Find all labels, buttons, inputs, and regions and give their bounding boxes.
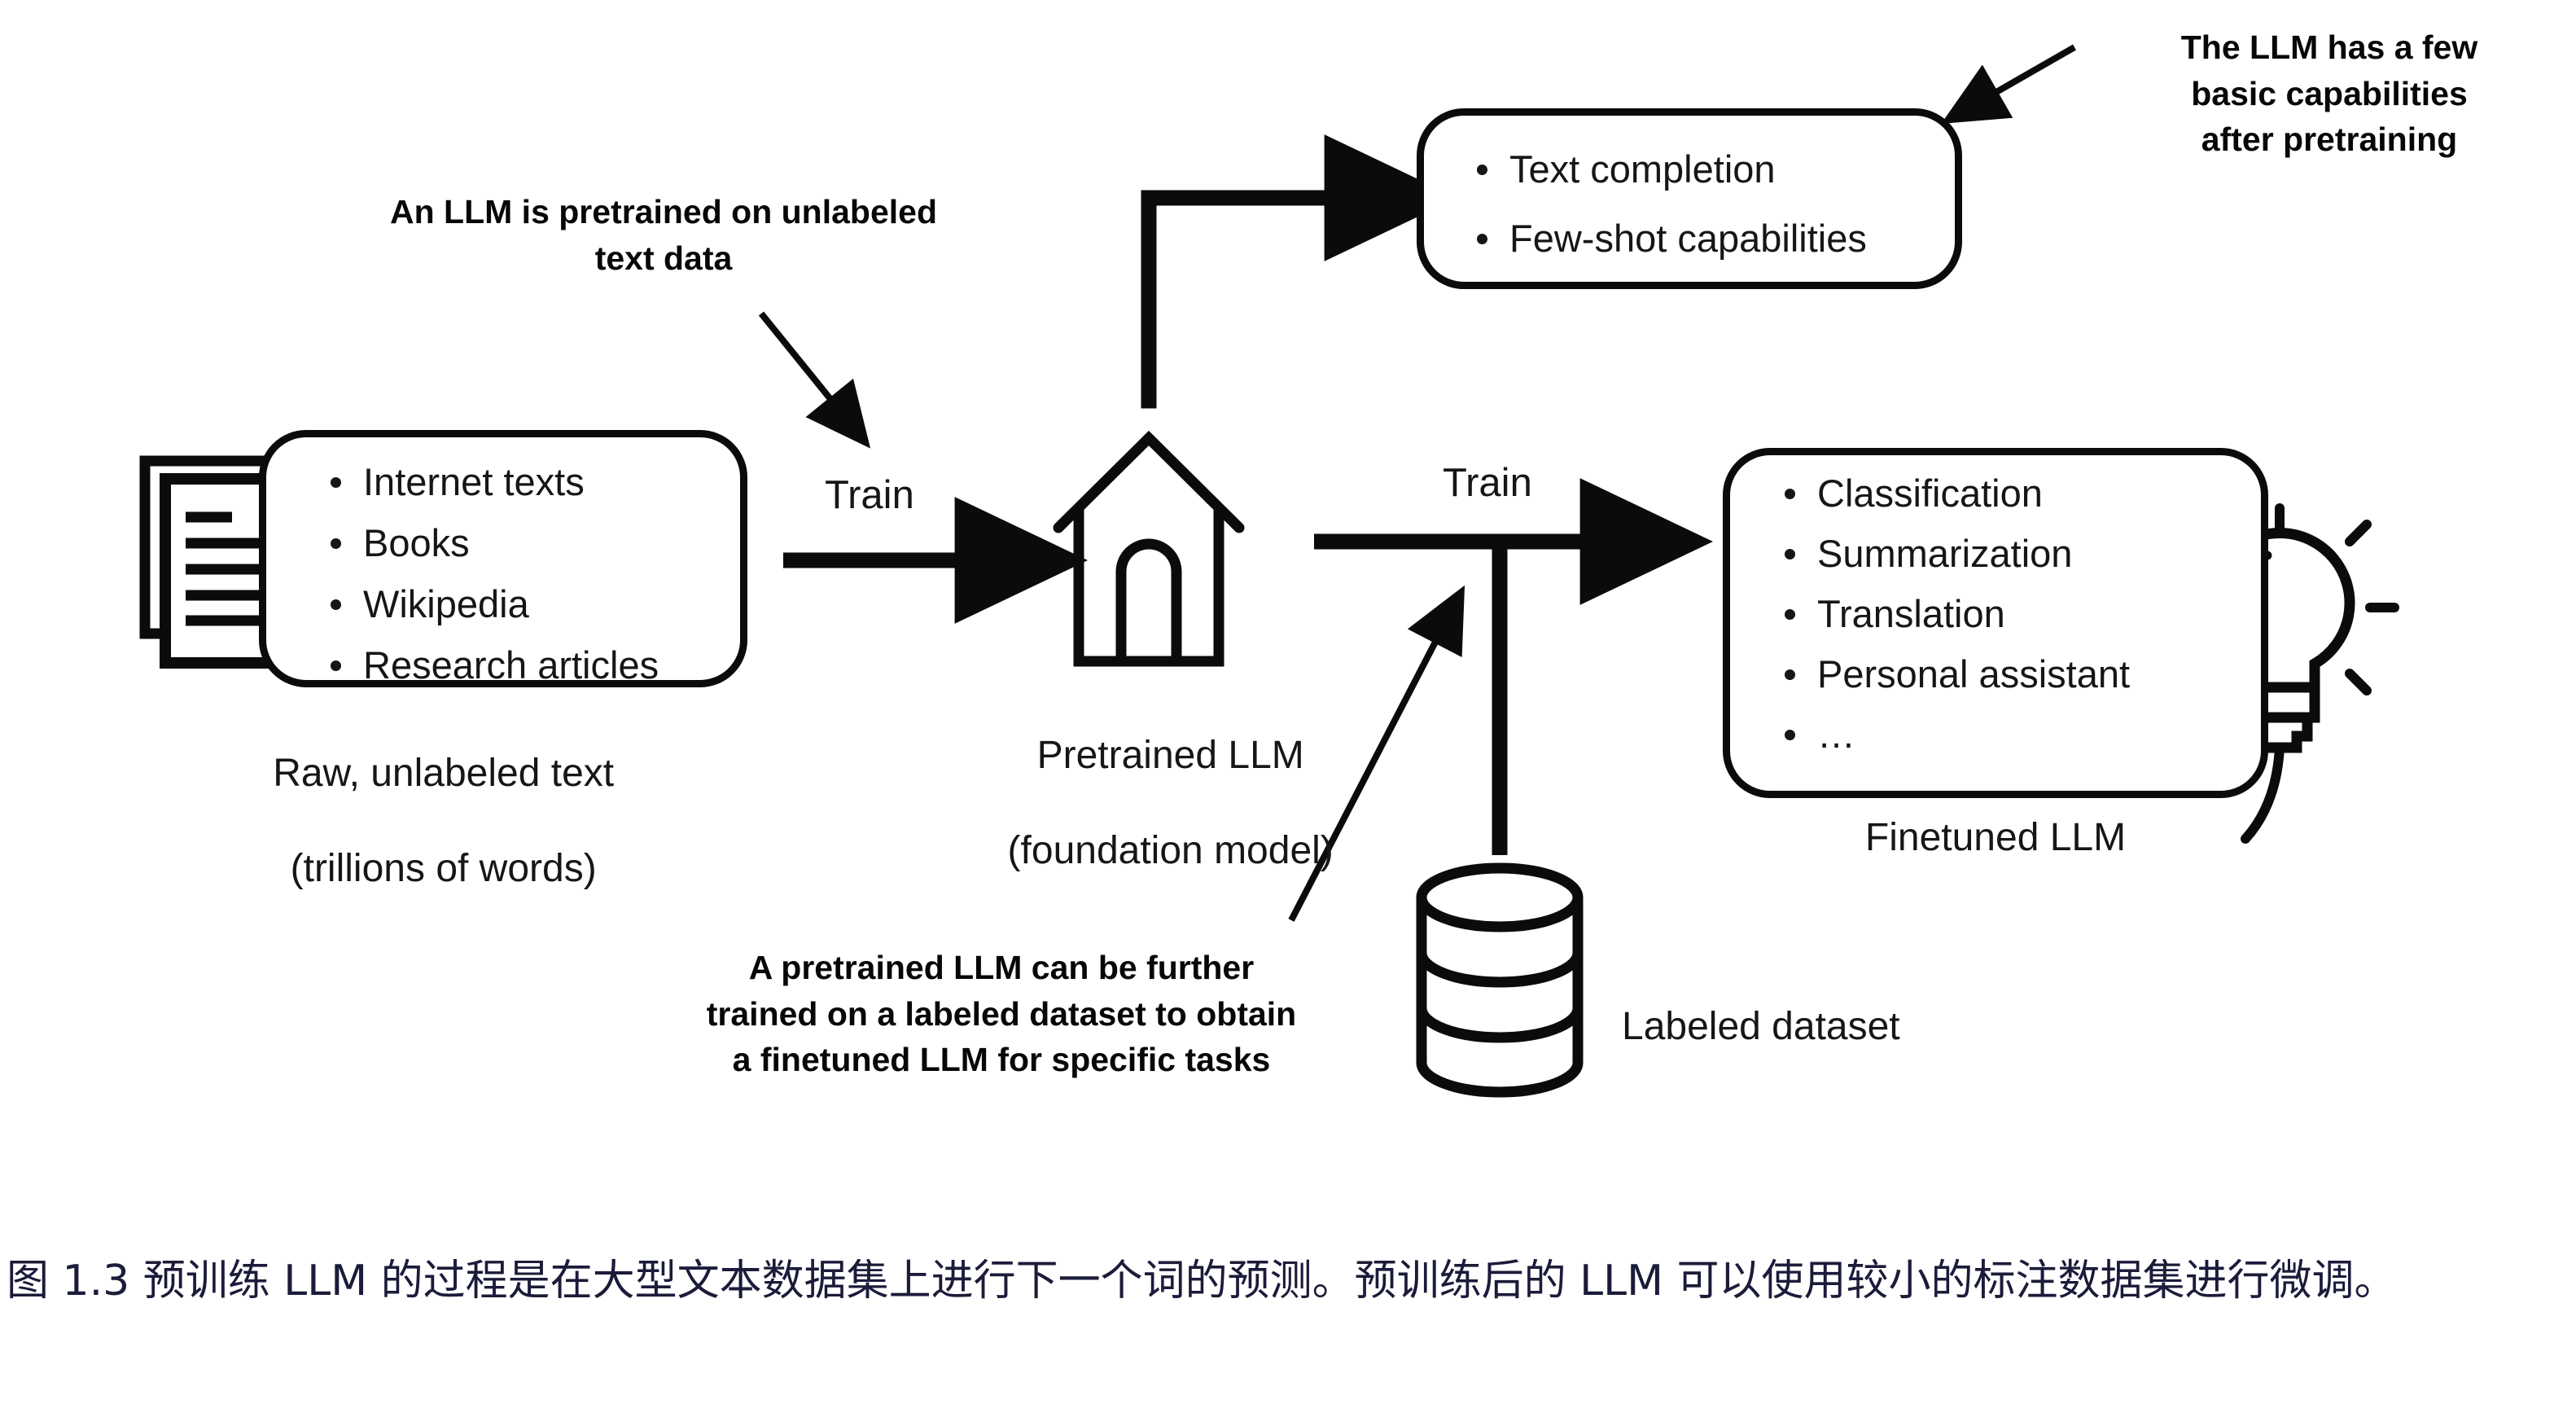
finetune-note: A pretrained LLM can be further trained … [643,945,1360,1083]
raw-text-label-line2: (trillions of words) [291,847,597,890]
pretrained-llm-label-line2: (foundation model) [1008,829,1334,872]
train-pretrain-label: Train [825,472,914,518]
figure-canvas: Internet texts Books Wikipedia Research … [0,0,2576,1404]
list-item: Summarization [1773,534,2262,573]
finetuned-llm-list: Classification Summarization Translation… [1773,474,2262,753]
list-item: Text completion [1465,150,1954,188]
list-item: … [1773,715,2262,753]
database-cylinder-icon [1422,868,1578,1092]
leader-capabilities-note [1958,47,2074,114]
base-capabilities-list: Text completion Few-shot capabilities [1465,150,1954,257]
raw-text-label-line1: Raw, unlabeled text [273,752,614,795]
finetuned-llm-label: Finetuned LLM [1723,814,2268,862]
train-finetune-label: Train [1443,460,1532,506]
pretrain-note: An LLM is pretrained on unlabeled text d… [342,189,985,281]
pretrained-llm-label: Pretrained LLM (foundation model) [921,684,1377,923]
raw-text-label: Raw, unlabeled text (trillions of words) [145,702,699,941]
capabilities-note: The LLM has a few basic capabilities aft… [2089,24,2569,163]
house-icon [1058,438,1239,661]
figure-caption: 图 1.3 预训练 LLM 的过程是在大型文本数据集上进行下一个词的预测。预训练… [7,1249,2571,1314]
list-item: Books [319,524,743,562]
labeled-dataset-label: Labeled dataset [1622,1003,2078,1051]
list-item: Personal assistant [1773,655,2262,693]
pretrained-llm-label-line1: Pretrained LLM [1037,734,1304,777]
list-item: Internet texts [319,463,743,501]
list-item: Few-shot capabilities [1465,219,1954,257]
list-item: Wikipedia [319,585,743,623]
raw-text-list: Internet texts Books Wikipedia Research … [319,463,743,684]
list-item: Research articles [319,646,743,684]
edge-pretrained-to-capabilities [1149,198,1365,401]
list-item: Classification [1773,474,2262,512]
leader-pretrain-note [761,314,858,433]
list-item: Translation [1773,595,2262,633]
